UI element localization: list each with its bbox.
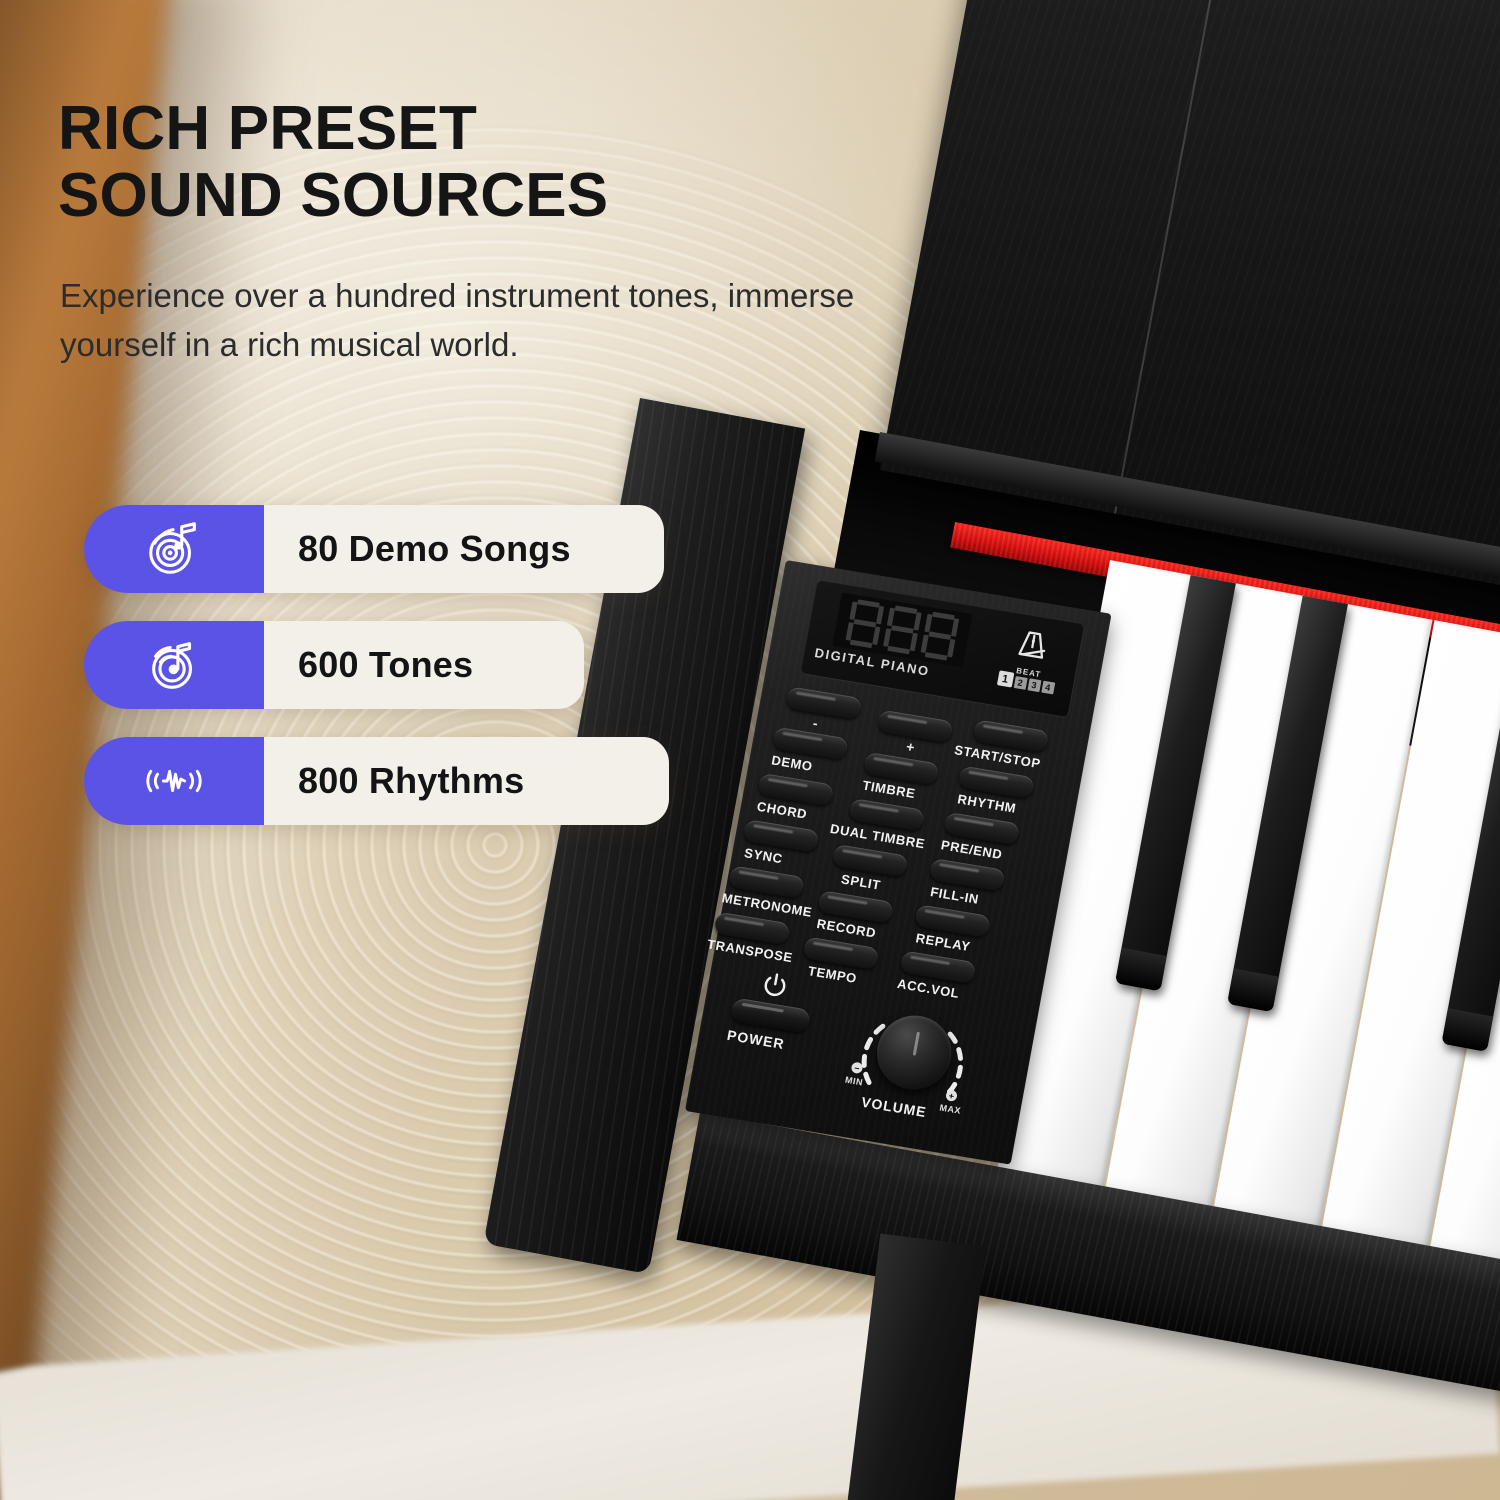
headline-line-2: SOUND SOURCES [58,163,838,230]
feature-item-rhythms[interactable]: 800 Rhythms [84,737,684,825]
concentric-tone-note-icon [143,634,205,696]
feature-label: 800 Rhythms [298,760,524,802]
metronome-icon [1008,621,1057,669]
beat-option[interactable]: 4 [1041,681,1055,695]
volume-control: − + MIN MAX VOLUME [837,984,989,1133]
beat-active-number[interactable]: 1 [996,670,1014,687]
led-digit [920,611,960,661]
feature-label-block: 80 Demo Songs [264,505,664,593]
subheadline: Experience over a hundred instrument ton… [60,272,880,370]
feature-label: 600 Tones [298,644,473,686]
vinyl-record-note-icon [143,518,205,580]
feature-icon-block [84,505,264,593]
led-digit [882,605,922,655]
feature-icon-block [84,737,264,825]
product-feature-image: DIGITAL PIANO 1 BEAT [0,0,1500,1500]
feature-label-block: 800 Rhythms [264,737,669,825]
beat-option[interactable]: 3 [1027,678,1041,692]
knob-pointer [912,1032,919,1056]
page-title: RICH PRESET SOUND SOURCES [58,96,838,230]
power-icon [759,970,792,1002]
feature-label-block: 600 Tones [264,621,584,709]
feature-icon-block [84,621,264,709]
feature-label: 80 Demo Songs [298,528,571,570]
feature-item-tones[interactable]: 600 Tones [84,621,684,709]
beat-indicator: 1 BEAT 2 3 4 [987,619,1071,709]
feature-item-demo-songs[interactable]: 80 Demo Songs [84,505,684,593]
sound-waveform-icon [143,750,205,812]
beat-option[interactable]: 2 [1013,676,1027,690]
feature-list: 80 Demo Songs 600 Tones [84,505,684,853]
headline-line-1: RICH PRESET [58,94,477,163]
led-digit [845,598,885,648]
